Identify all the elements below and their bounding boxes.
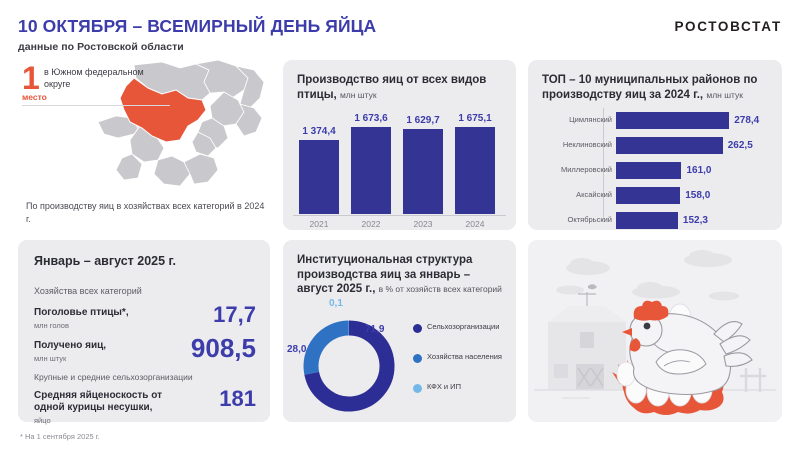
bar-value-label: 1 673,6 [354, 113, 387, 124]
legend-color-dot [413, 354, 422, 363]
divider [22, 105, 170, 106]
donut-chart [297, 316, 401, 416]
bar-x-label: 2022 [351, 219, 391, 229]
farm-illustration-panel [528, 240, 782, 422]
bar-rect [455, 127, 495, 214]
eye [644, 323, 651, 330]
top10-panel: ТОП – 10 муниципальных районов по произв… [528, 60, 782, 230]
stat-unit-laying: яйцо [34, 415, 184, 427]
bar-value-label: 1 629,7 [406, 115, 439, 126]
production-bars: 1 374,41 673,61 629,71 675,1 [295, 118, 504, 214]
bar-x-label: 2021 [299, 219, 339, 229]
x-axis-line [293, 215, 506, 216]
district-value: 161,0 [686, 165, 711, 176]
district-name: Неклиновский [540, 140, 612, 149]
district-bar [616, 162, 681, 179]
brand-logo: РОСТОВСТАТ [674, 19, 782, 34]
district-row: Аксайский158,0 [540, 187, 770, 204]
page-subtitle: данные по Ростовской области [18, 41, 782, 53]
district-name: Октябрьский [540, 215, 612, 224]
donut-value-label: 0,1 [329, 298, 343, 309]
fence-icon [740, 368, 766, 392]
structure-unit: в % от хозяйств всех категорий [379, 284, 502, 294]
structure-title: Институциональная структура производства… [297, 253, 504, 297]
bar-x-label: 2024 [455, 219, 495, 229]
top10-title: ТОП – 10 муниципальных районов по произв… [542, 73, 770, 102]
stat-value-eggs: 908,5 [191, 333, 256, 364]
district-row: Неклиновский262,5 [540, 137, 770, 154]
district-value: 152,3 [683, 215, 708, 226]
stat-value-laying: 181 [219, 386, 256, 412]
hen-with-eggs-illustration [528, 240, 782, 422]
district-name: Аксайский [540, 190, 612, 199]
stat-label-poultry: Поголовье птицы*, млн голов [34, 307, 184, 332]
stat-label-eggs: Получено яиц, млн штук [34, 340, 184, 365]
production-chart-title: Производство яиц от всех видов птицы, мл… [297, 73, 504, 102]
bar-column: 1 374,4 [299, 126, 339, 214]
header: 10 ОКТЯБРЯ – ВСЕМИРНЫЙ ДЕНЬ ЯЙЦА данные … [18, 16, 782, 53]
structure-panel: Институциональная структура производства… [283, 240, 516, 422]
top10-bars: Цимлянский278,4Неклиновский262,5Миллеров… [540, 112, 770, 222]
bar-column: 1 673,6 [351, 113, 391, 214]
donut-slice [311, 328, 349, 373]
district-row: Цимлянский278,4 [540, 112, 770, 129]
district-bar [616, 187, 680, 204]
stat-label-eggs-text: Получено яиц, [34, 340, 106, 351]
footnote: * На 1 сентября 2025 г. [20, 432, 100, 441]
stats-period-title: Январь – август 2025 г. [34, 254, 176, 268]
legend-item: КФХ и ИП [413, 382, 509, 412]
stat-label-laying: Средняя яйценоскость от одной курицы нес… [34, 390, 184, 427]
bar-rect [403, 129, 443, 214]
rank-text: в Южном федеральном округе [44, 66, 168, 90]
stats-category-all: Хозяйства всех категорий [34, 286, 142, 296]
legend-label: Сельхозорганизации [427, 322, 509, 332]
legend-color-dot [413, 324, 422, 333]
production-chart-unit: млн штук [340, 90, 377, 100]
legend-item: Сельхозорганизации [413, 322, 509, 352]
stat-label-poultry-text: Поголовье птицы*, [34, 307, 129, 318]
bar-value-label: 1 675,1 [458, 113, 491, 124]
bar-rect [351, 127, 391, 214]
stats-panel: Январь – август 2025 г. Хозяйства всех к… [18, 240, 270, 422]
district-name: Миллеровский [540, 165, 612, 174]
stat-unit-poultry: млн голов [34, 320, 184, 332]
district-bar [616, 212, 678, 229]
district-value: 262,5 [728, 140, 753, 151]
comb [634, 301, 669, 321]
district-name: Цимлянский [540, 115, 612, 124]
district-value: 278,4 [734, 115, 759, 126]
district-bar [616, 137, 723, 154]
rank-place-label: место [22, 92, 47, 102]
bar-rect [299, 140, 339, 214]
bar-x-label: 2023 [403, 219, 443, 229]
map-panel: 1 в Южном федеральном округе место [18, 60, 270, 230]
infographic-page: 10 ОКТЯБРЯ – ВСЕМИРНЫЙ ДЕНЬ ЯЙЦА данные … [0, 0, 800, 451]
page-title: 10 ОКТЯБРЯ – ВСЕМИРНЫЙ ДЕНЬ ЯЙЦА [18, 16, 782, 37]
donut-value-label: 71,9 [365, 324, 384, 335]
map-note: По производству яиц в хозяйствах всех ка… [26, 200, 266, 225]
stats-category-large: Крупные и средние сельхозорганизации [34, 372, 193, 382]
stat-label-laying-text: Средняя яйценоскость от одной курицы нес… [34, 390, 162, 413]
bar-column: 1 675,1 [455, 113, 495, 214]
production-chart-panel: Производство яиц от всех видов птицы, мл… [283, 60, 516, 230]
donut-svg [297, 316, 401, 416]
district-row: Миллеровский161,0 [540, 162, 770, 179]
district-row: Октябрьский152,3 [540, 212, 770, 229]
bar-column: 1 629,7 [403, 115, 443, 214]
rank-number: 1 [22, 64, 40, 92]
legend-item: Хозяйства населения [413, 352, 509, 382]
donut-legend: СельхозорганизацииХозяйства населенияКФХ… [413, 322, 509, 412]
production-x-labels: 2021202220232024 [295, 219, 504, 233]
production-chart-title-text: Производство яиц от всех видов птицы, [297, 74, 486, 101]
legend-label: КФХ и ИП [427, 382, 509, 392]
legend-label: Хозяйства населения [427, 352, 509, 362]
stat-value-poultry: 17,7 [213, 302, 256, 328]
district-bar [616, 112, 729, 129]
top10-unit: млн штук [706, 90, 743, 100]
bar-value-label: 1 374,4 [302, 126, 335, 137]
district-value: 158,0 [685, 190, 710, 201]
stat-unit-eggs: млн штук [34, 353, 184, 365]
donut-value-label: 28,0 [287, 344, 306, 355]
legend-color-dot [413, 384, 422, 393]
cloud-icon [556, 250, 739, 301]
